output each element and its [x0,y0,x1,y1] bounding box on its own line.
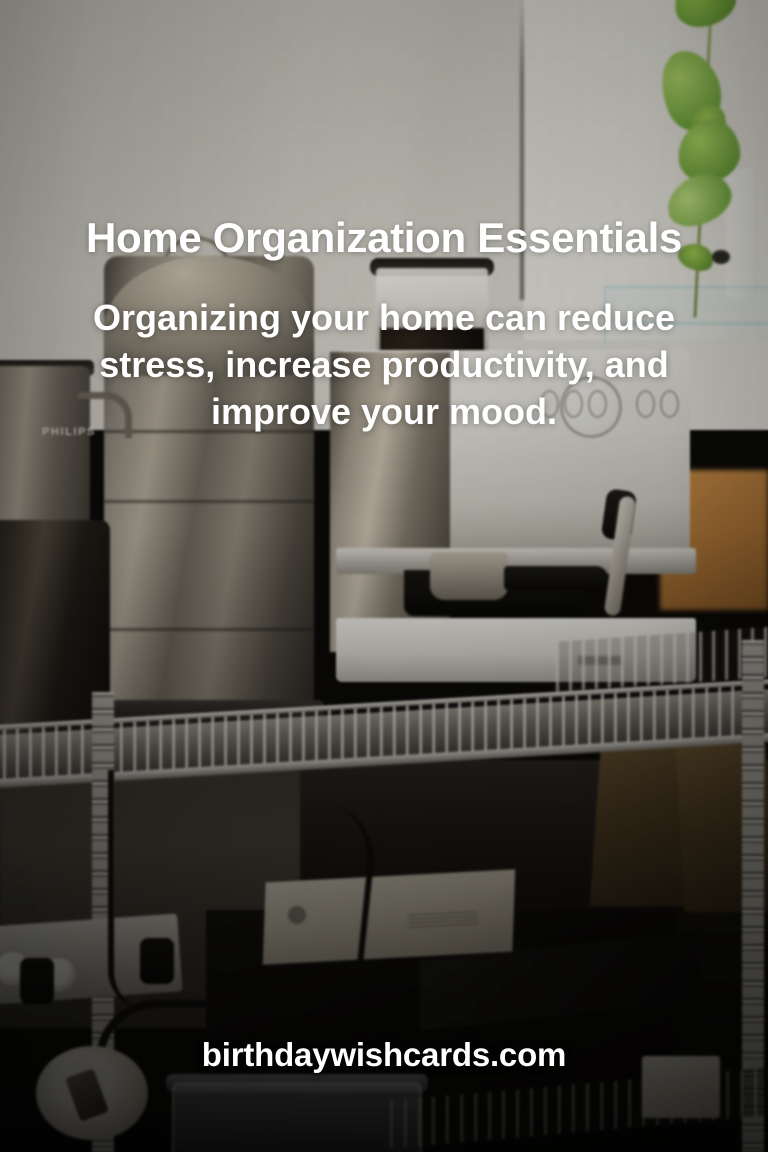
pin-graphic: PHILIPS [0,0,768,1152]
text-overlay: Home Organization Essentials Organizing … [0,0,768,1152]
site-url: birthdaywishcards.com [0,1036,768,1074]
pin-title: Home Organization Essentials [0,214,768,261]
pin-subtitle: Organizing your home can reduce stress, … [0,295,768,435]
